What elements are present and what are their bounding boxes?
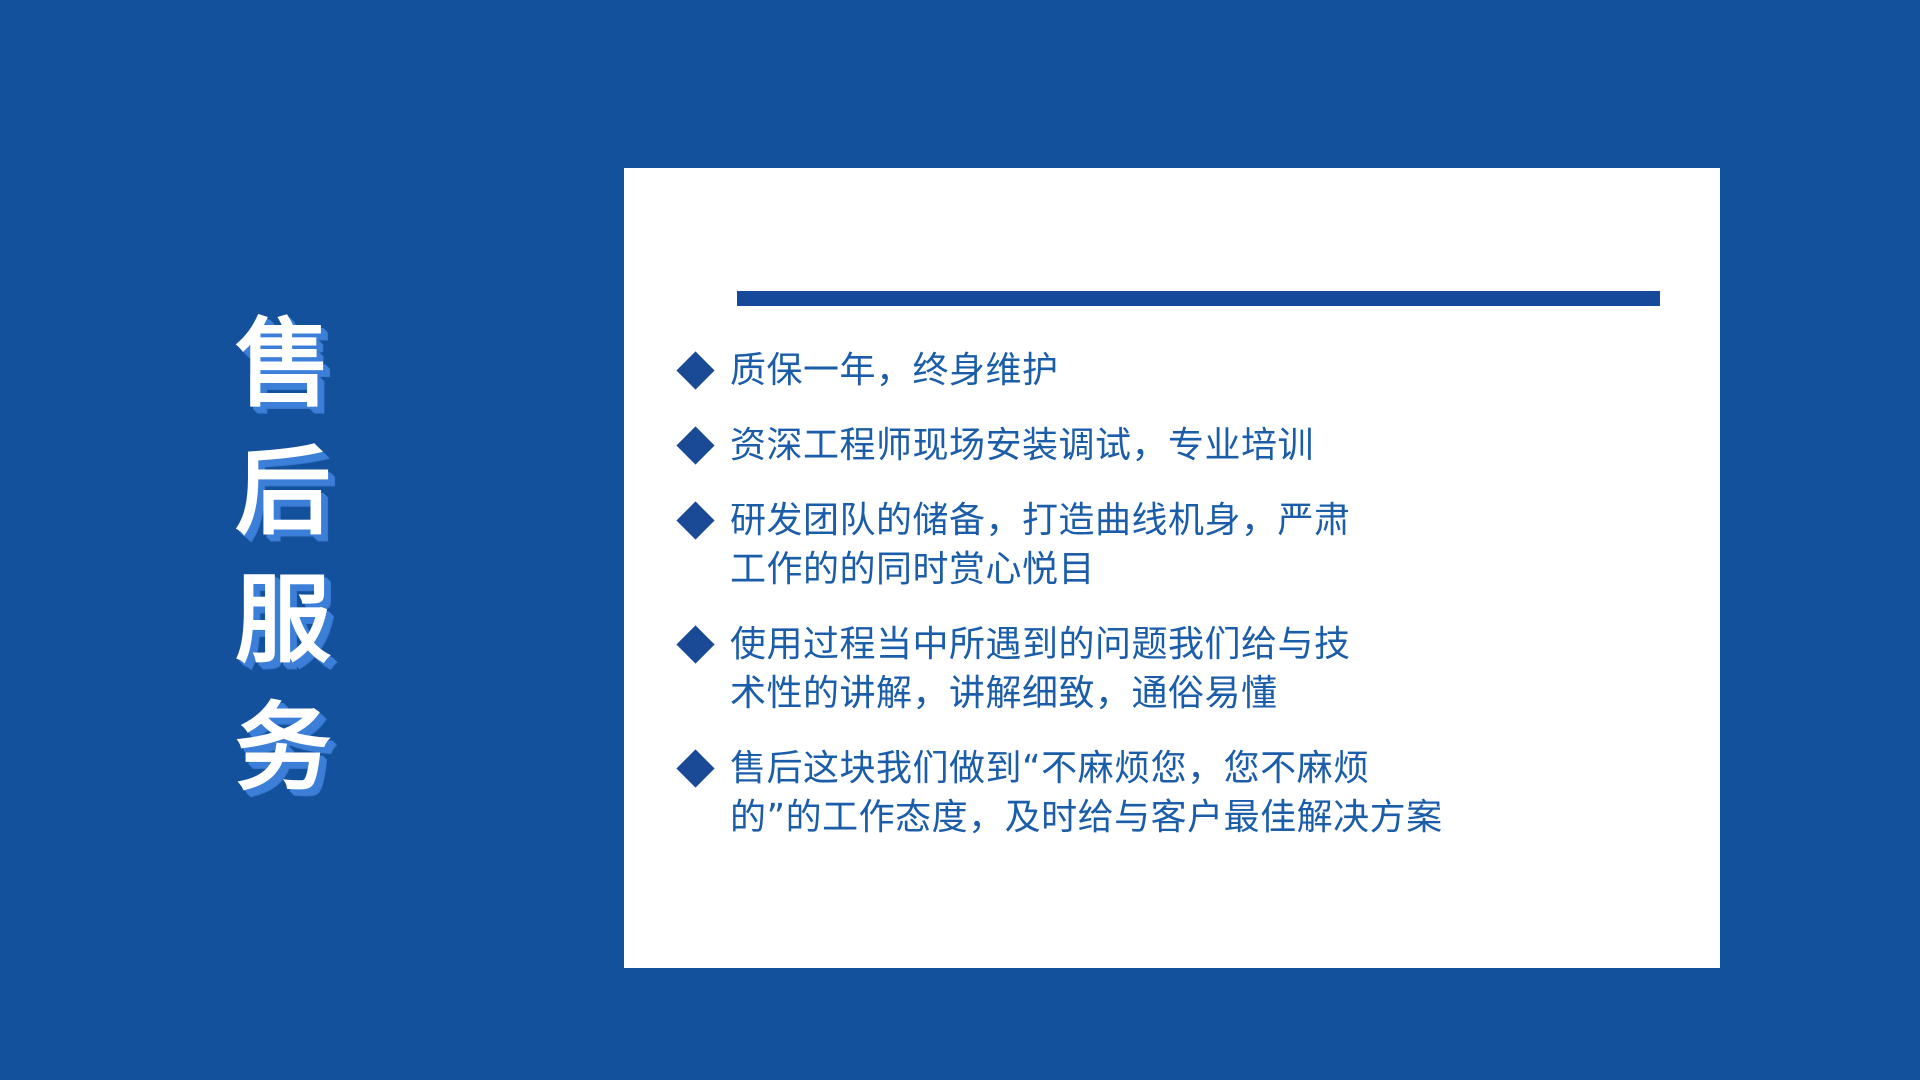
title-char-4: 务 xyxy=(218,684,348,812)
diamond-icon xyxy=(682,620,730,658)
page-title: 售 后 服 务 xyxy=(218,300,348,812)
title-char-3: 服 xyxy=(218,556,348,684)
diamond-icon xyxy=(682,744,730,782)
list-item: 使用过程当中所遇到的问题我们给与技 术性的讲解，讲解细致，通俗易懂 xyxy=(682,620,1692,718)
list-item: 质保一年，终身维护 xyxy=(682,346,1692,395)
bullet-list: 质保一年，终身维护 资深工程师现场安装调试，专业培训 研发团队的储备，打造曲线机… xyxy=(682,346,1692,842)
diamond-icon xyxy=(682,421,730,459)
list-item-text: 资深工程师现场安装调试，专业培训 xyxy=(730,421,1692,470)
list-item: 研发团队的储备，打造曲线机身，严肃 工作的的同时赏心悦目 xyxy=(682,496,1692,594)
list-item-text: 质保一年，终身维护 xyxy=(730,346,1692,395)
diamond-icon xyxy=(682,346,730,384)
list-item: 资深工程师现场安装调试，专业培训 xyxy=(682,421,1692,470)
list-item-text: 研发团队的储备，打造曲线机身，严肃 工作的的同时赏心悦目 xyxy=(730,496,1692,594)
list-item-text: 使用过程当中所遇到的问题我们给与技 术性的讲解，讲解细致，通俗易懂 xyxy=(730,620,1692,718)
list-item-text: 售后这块我们做到“不麻烦您，您不麻烦 的”的工作态度，及时给与客户最佳解决方案 xyxy=(730,744,1692,842)
title-char-1: 售 xyxy=(218,300,348,428)
list-item: 售后这块我们做到“不麻烦您，您不麻烦 的”的工作态度，及时给与客户最佳解决方案 xyxy=(682,744,1692,842)
accent-bar xyxy=(737,291,1660,306)
title-char-2: 后 xyxy=(218,428,348,556)
slide-canvas: 售 后 服 务 质保一年，终身维护 资深工程师现场安装调试，专业培训 研发团队的… xyxy=(0,0,1920,1080)
content-card: 质保一年，终身维护 资深工程师现场安装调试，专业培训 研发团队的储备，打造曲线机… xyxy=(624,168,1720,968)
diamond-icon xyxy=(682,496,730,534)
